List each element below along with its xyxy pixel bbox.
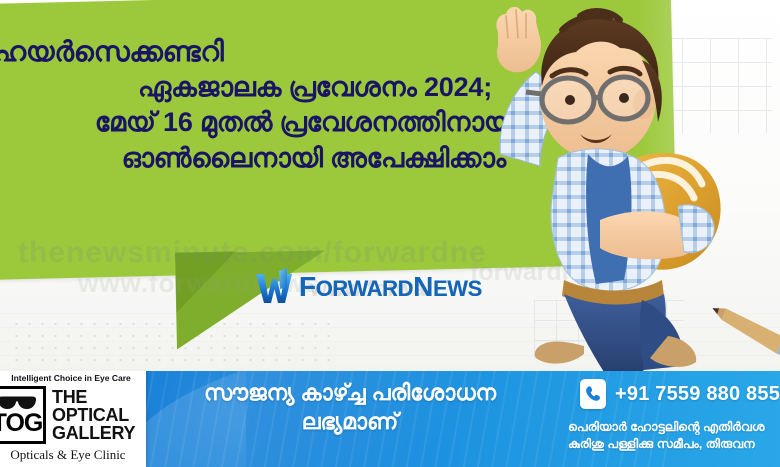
headline-line-1: ഹയർസെക്കണ്ടറി xyxy=(0,34,530,70)
banner-offer-line-2: ലഭ്യമാണ് xyxy=(150,408,550,437)
optical-gallery-tagline: Intelligent Choice in Eye Care xyxy=(0,373,146,383)
forwardnews-w-mark-icon xyxy=(253,267,297,307)
store-address: പെരിയാർ ഹോട്ടലിന്റെ എതിർവശ കുരിശു പള്ളിക… xyxy=(568,419,780,453)
optical-gallery-logo-row: TOG THE OPTICAL GALLERY xyxy=(0,386,135,444)
banner-offer-text: സൗജന്യ കാഴ്ച്ച പരിശോധന ലഭ്യമാണ് xyxy=(150,379,550,436)
tog-initials: TOG xyxy=(0,412,42,435)
tog-logo-mark: TOG xyxy=(0,386,46,444)
banner-offer-line-1: സൗജന്യ കാഴ്ച്ച പരിശോധന xyxy=(150,379,550,408)
advertisement-banner: സൗജന്യ കാഴ്ച്ച പരിശോധന ലഭ്യമാണ് +91 7559… xyxy=(0,371,780,467)
green-banner-tail-shadow xyxy=(175,251,236,312)
headline-block: ഹയർസെക്കണ്ടറി ഏകജാലക പ്രവേശനം 2024; മേയ്… xyxy=(0,34,530,176)
optical-gallery-logo-panel: Intelligent Choice in Eye Care TOG THE O… xyxy=(0,371,146,467)
optical-gallery-subtitle: Opticals & Eye Clinic xyxy=(0,447,146,463)
poster-image: thenewsminute.com/forwardne www.forwardn… xyxy=(0,0,780,467)
phone-number[interactable]: +91 7559 880 855 xyxy=(615,383,780,406)
address-line-1: പെരിയാർ ഹോട്ടലിന്റെ എതിർവശ xyxy=(568,419,780,436)
headline-line-3: മേയ് 16 മുതൽ പ്രവേശനത്തിനായി xyxy=(0,105,530,140)
optical-gallery-name: THE OPTICAL GALLERY xyxy=(52,388,135,442)
headline-line-2: ഏകജാലക പ്രവേശനം 2024; xyxy=(0,70,530,105)
headline-line-4: ഓൺലൈനായി അപേക്ഷിക്കാം xyxy=(0,141,530,176)
optical-gallery-name-line-1: THE xyxy=(52,388,135,406)
eyeglasses-icon xyxy=(0,396,37,411)
phone-icon xyxy=(580,379,606,409)
forwardnews-wordmark: FORWARDNEWS xyxy=(299,273,482,301)
phone-contact-block[interactable]: +91 7559 880 855 xyxy=(580,379,780,409)
address-line-2: കുരിശു പള്ളിക്കു സമീപം, തിരുവന xyxy=(568,436,780,453)
optical-gallery-name-line-2: OPTICAL xyxy=(52,406,135,424)
optical-gallery-name-line-3: GALLERY xyxy=(52,424,135,442)
forwardnews-logo: FORWARDNEWS xyxy=(253,266,482,308)
